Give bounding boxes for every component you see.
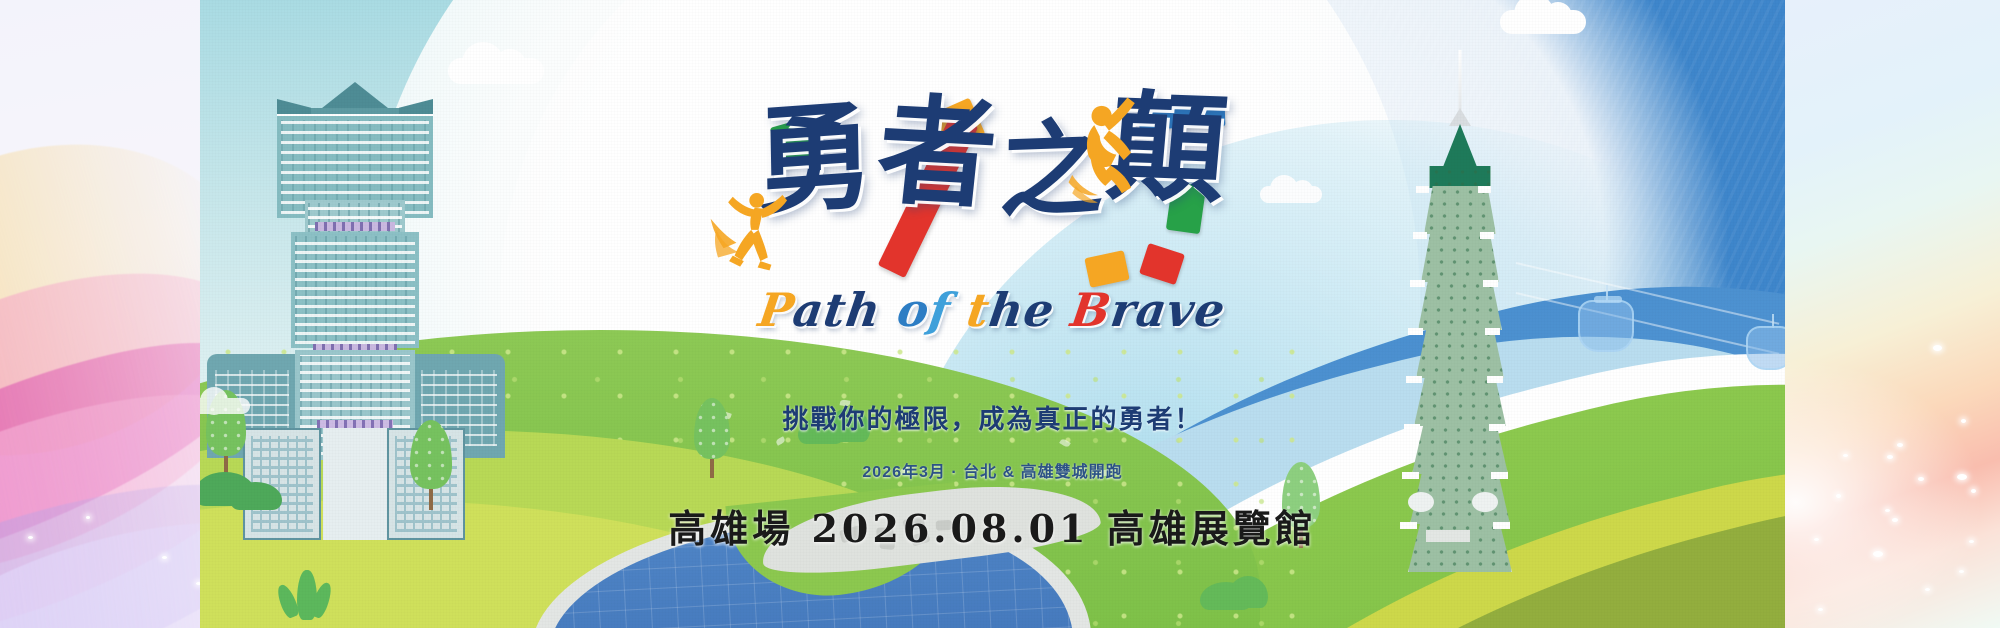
cloud (1080, 56, 1154, 76)
tower-accent-band (315, 222, 395, 231)
tree (410, 420, 452, 508)
gondola-car (1578, 300, 1634, 352)
tree (1282, 462, 1320, 546)
sparkle-dot (1933, 345, 1942, 351)
taipei-101-tower (1400, 50, 1520, 555)
tower-disc (1472, 492, 1498, 512)
sparkle-dot (86, 516, 90, 519)
sparkle-dot (1959, 570, 1964, 573)
tower-left-shoulder (277, 99, 311, 115)
sparkle-dot (1971, 489, 1976, 493)
path-stone (879, 539, 895, 550)
sparkle-dot (1873, 551, 1883, 557)
tower-accent-band-3 (317, 420, 393, 428)
sparkle-dot (1887, 455, 1893, 459)
sparkle-dot (1843, 454, 1848, 457)
sparkle-dot (28, 536, 33, 539)
sparkle-dot (1892, 518, 1898, 522)
sparkle-dot (1961, 419, 1966, 423)
path-stone (839, 525, 864, 543)
tower-mid-shaft (291, 232, 419, 348)
banner-page: 勇者之顛 (0, 0, 2000, 628)
tower-segment (1414, 376, 1506, 426)
sparkle-dot (1957, 474, 1967, 480)
spire-base (1449, 108, 1471, 126)
sparkle-dot (1836, 494, 1841, 498)
cloud (1500, 10, 1586, 34)
sparkle-dot (1885, 509, 1890, 512)
sparkle-dot (1818, 608, 1823, 611)
path-stone (876, 527, 893, 538)
sparkle-dot (1925, 588, 1930, 591)
tower-segment (1416, 328, 1504, 378)
sparkle-dot (162, 556, 167, 559)
path-stone (903, 516, 926, 532)
cloud (200, 398, 250, 414)
sparkle-dot (1814, 538, 1819, 541)
tower-segment (1412, 424, 1508, 474)
tree (694, 398, 730, 476)
tower-gap-core (323, 428, 387, 540)
event-banner-illustration: 勇者之顛 (200, 0, 1785, 628)
cloud (448, 58, 544, 84)
left-decorative-gutter (0, 0, 200, 628)
tower-podium-band (1426, 530, 1470, 542)
tower-disc (1408, 492, 1434, 512)
sparkle-dot (1969, 540, 1974, 543)
tower-segment (1424, 186, 1496, 234)
tower-segment (1421, 232, 1499, 282)
tower-segment (1418, 280, 1502, 330)
spire (1459, 50, 1462, 112)
path-stone (910, 531, 930, 547)
sparkle-dot (1897, 443, 1903, 447)
path-stone (936, 520, 953, 531)
sparkle-dot (1918, 477, 1924, 481)
gondola-car (1746, 326, 1785, 370)
cloud (1260, 186, 1322, 203)
right-decorative-gutter (1785, 0, 2000, 628)
tower-right-shoulder (399, 99, 433, 115)
tower-cap (1429, 166, 1491, 188)
